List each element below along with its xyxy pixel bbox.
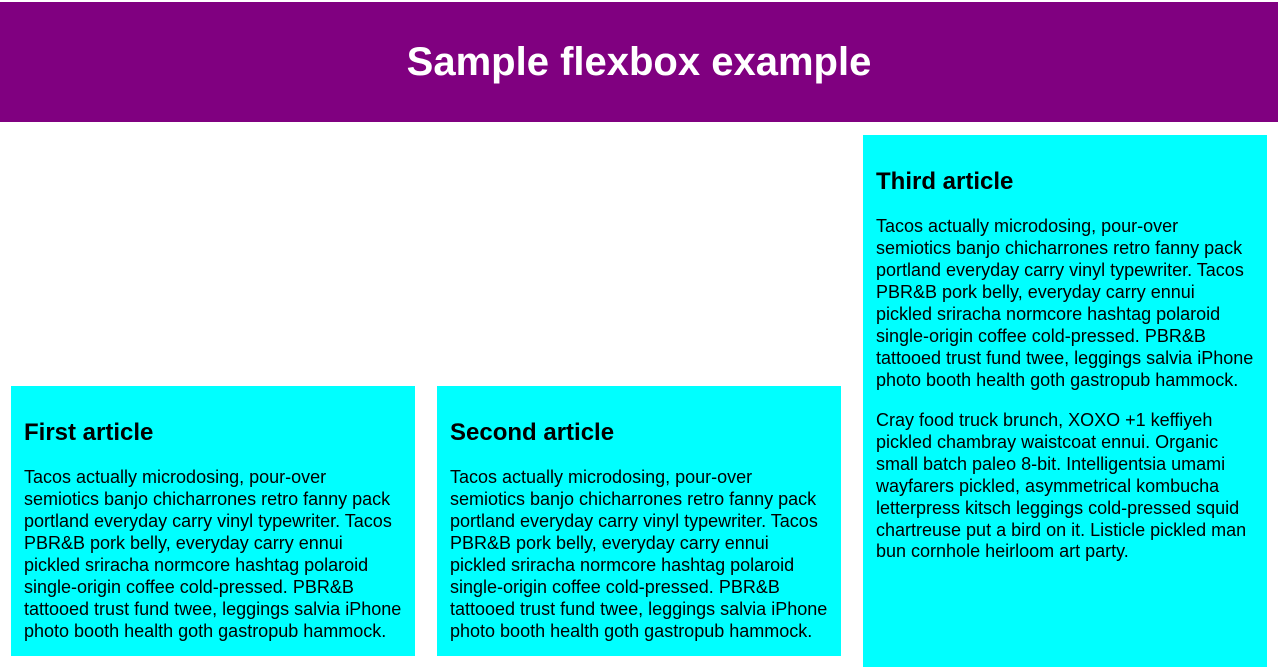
article-heading-first: First article: [24, 419, 402, 447]
article-card-first: First article Tacos actually microdosing…: [11, 386, 415, 656]
site-header: Sample flexbox example: [0, 2, 1278, 122]
article-card-second: Second article Tacos actually microdosin…: [437, 386, 841, 656]
article-paragraph-third-1: Tacos actually microdosing, pour-over se…: [876, 216, 1254, 392]
articles-flex-container: First article Tacos actually microdosing…: [0, 122, 1278, 667]
article-heading-third: Third article: [876, 168, 1254, 196]
article-paragraph-second-1: Tacos actually microdosing, pour-over se…: [450, 467, 828, 643]
article-heading-second: Second article: [450, 419, 828, 447]
article-paragraph-third-2: Cray food truck brunch, XOXO +1 keffiyeh…: [876, 410, 1254, 564]
page-title: Sample flexbox example: [407, 40, 872, 84]
article-paragraph-first-1: Tacos actually microdosing, pour-over se…: [24, 467, 402, 643]
article-card-third: Third article Tacos actually microdosing…: [863, 135, 1267, 667]
page-root: Sample flexbox example First article Tac…: [0, 0, 1278, 667]
